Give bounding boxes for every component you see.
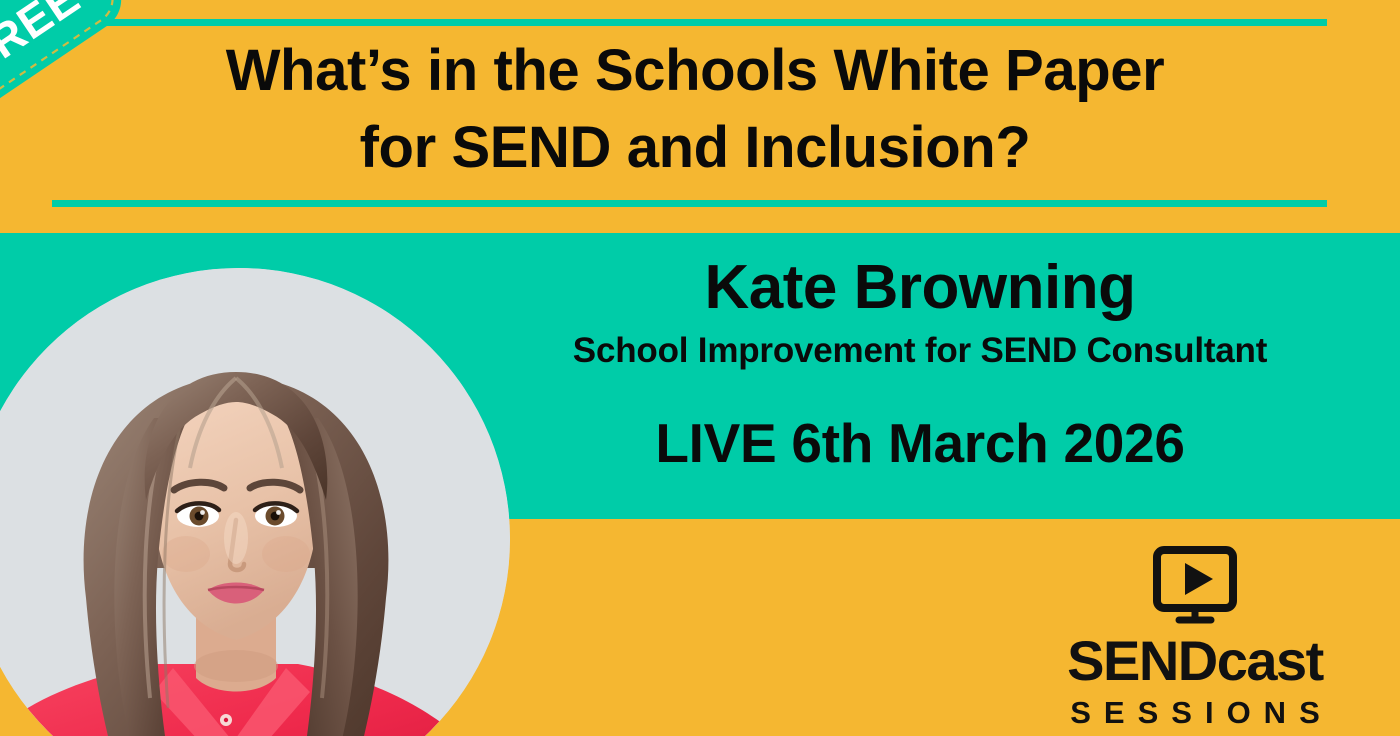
- logo-subtitle: SESSIONS: [1030, 697, 1360, 728]
- page-title: What’s in the Schools White Paper for SE…: [60, 32, 1330, 186]
- speaker-name: Kate Browning: [500, 255, 1340, 320]
- sendcast-logo: SENDcast SESSIONS: [1030, 545, 1360, 728]
- webinar-promo-banner: What’s in the Schools White Paper for SE…: [0, 0, 1400, 736]
- logo-word-primary: SEND: [1067, 629, 1217, 692]
- monitor-play-icon: [1030, 545, 1360, 627]
- title-rule-top: [95, 19, 1327, 26]
- live-date: LIVE 6th March 2026: [500, 415, 1340, 473]
- free-badge: FREE: [0, 0, 158, 84]
- logo-word-secondary: cast: [1217, 629, 1323, 692]
- title-rule-bottom: [52, 200, 1327, 207]
- title-line-1: What’s in the Schools White Paper: [60, 32, 1330, 109]
- logo-wordmark: SENDcast: [1030, 633, 1360, 689]
- speaker-role: School Improvement for SEND Consultant: [500, 332, 1340, 371]
- title-line-2: for SEND and Inclusion?: [60, 109, 1330, 186]
- speaker-info: Kate Browning School Improvement for SEN…: [500, 255, 1340, 472]
